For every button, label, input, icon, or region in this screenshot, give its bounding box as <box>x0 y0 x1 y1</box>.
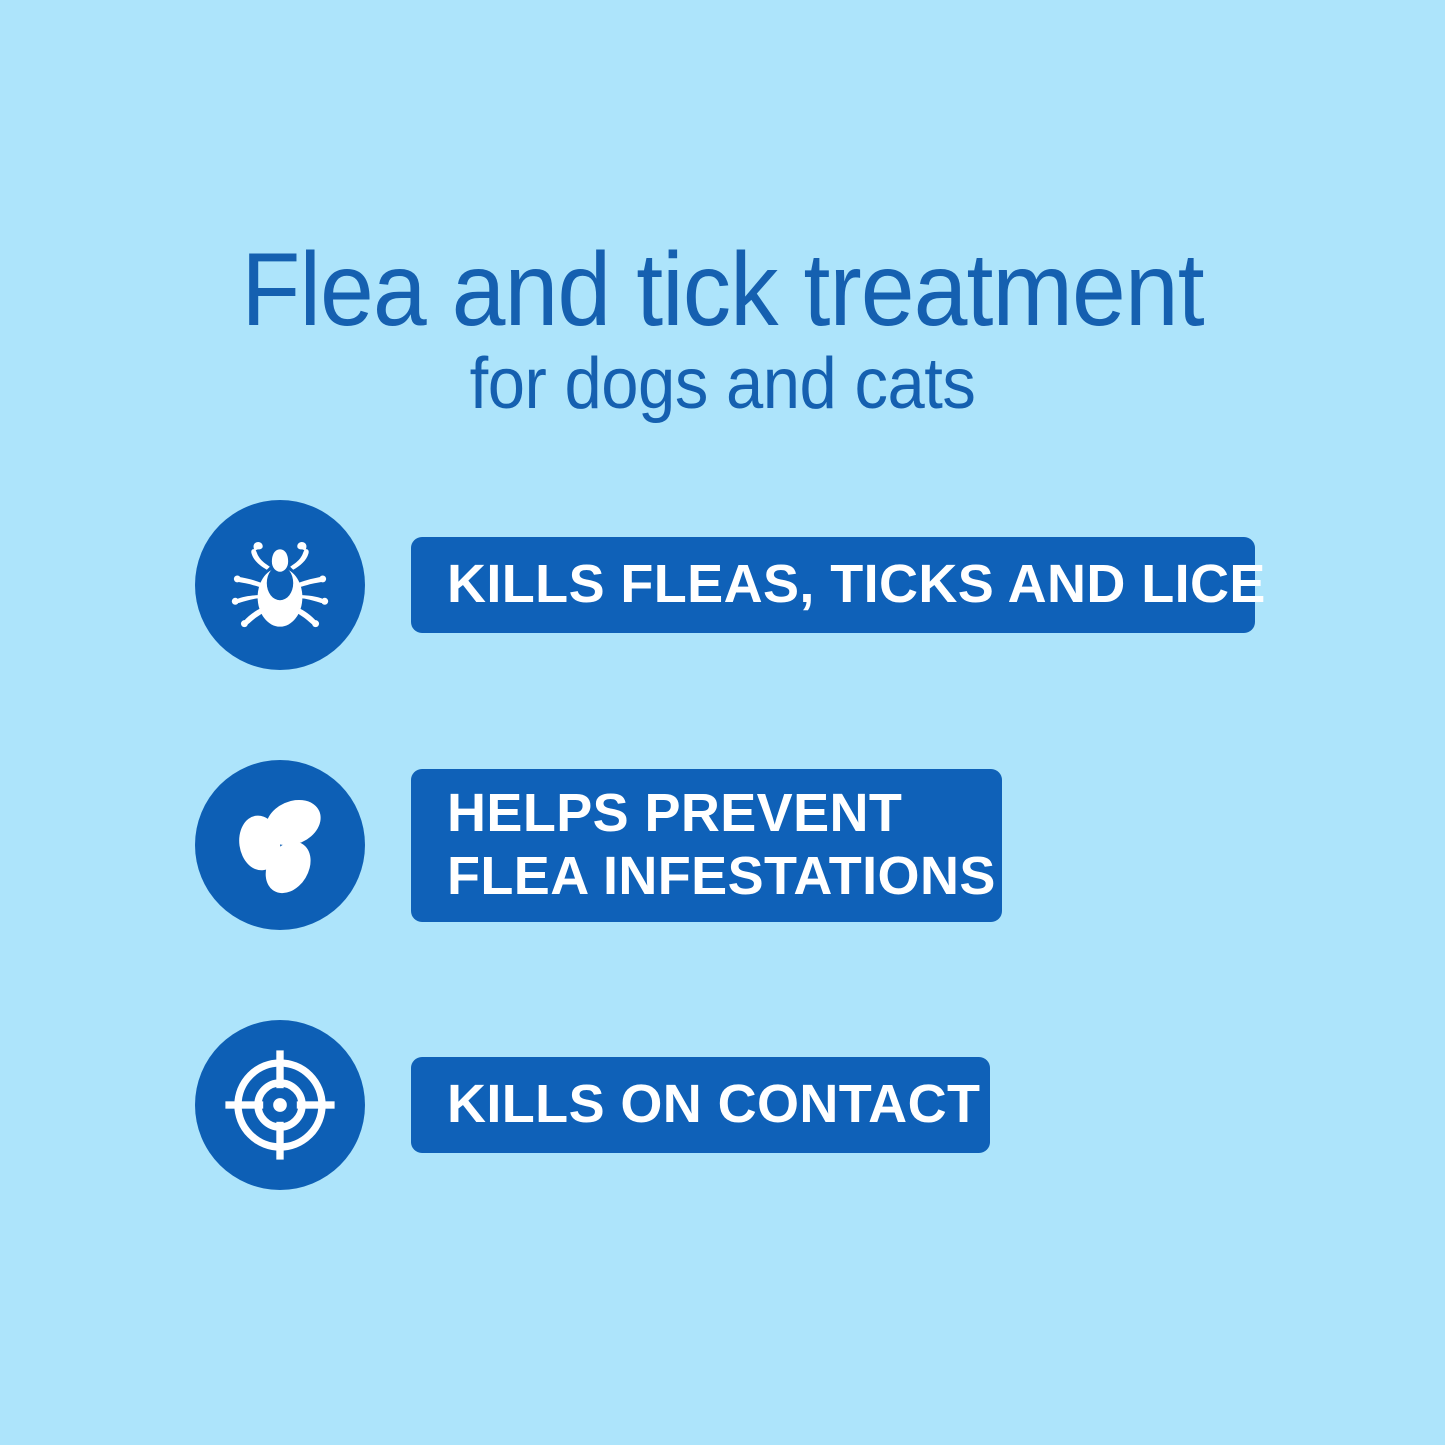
icon-circle-target <box>195 1020 365 1190</box>
feature-pill-line: HELPS PREVENT <box>447 782 1002 845</box>
tick-bug-icon <box>219 524 341 646</box>
icon-circle-tick <box>195 500 365 670</box>
flea-eggs-icon <box>219 784 341 906</box>
heading-block: Flea and tick treatment for dogs and cat… <box>0 238 1445 420</box>
feature-pill: KILLS FLEAS, TICKS AND LICE <box>411 537 1255 633</box>
icon-circle-eggs <box>195 760 365 930</box>
page-subtitle: for dogs and cats <box>51 348 1395 420</box>
feature-pill: HELPS PREVENT FLEA INFESTATIONS <box>411 769 1002 922</box>
feature-pill-line: KILLS ON CONTACT <box>447 1073 990 1136</box>
feature-row: KILLS FLEAS, TICKS AND LICE <box>195 500 1255 670</box>
feature-pill: KILLS ON CONTACT <box>411 1057 990 1153</box>
page-title: Flea and tick treatment <box>51 238 1395 342</box>
feature-row: KILLS ON CONTACT <box>195 1020 990 1190</box>
crosshair-target-icon <box>217 1042 343 1168</box>
feature-row: HELPS PREVENT FLEA INFESTATIONS <box>195 760 1002 930</box>
product-feature-graphic: Flea and tick treatment for dogs and cat… <box>0 0 1445 1445</box>
feature-pill-line: KILLS FLEAS, TICKS AND LICE <box>447 553 1255 616</box>
feature-pill-line: FLEA INFESTATIONS <box>447 845 1002 908</box>
